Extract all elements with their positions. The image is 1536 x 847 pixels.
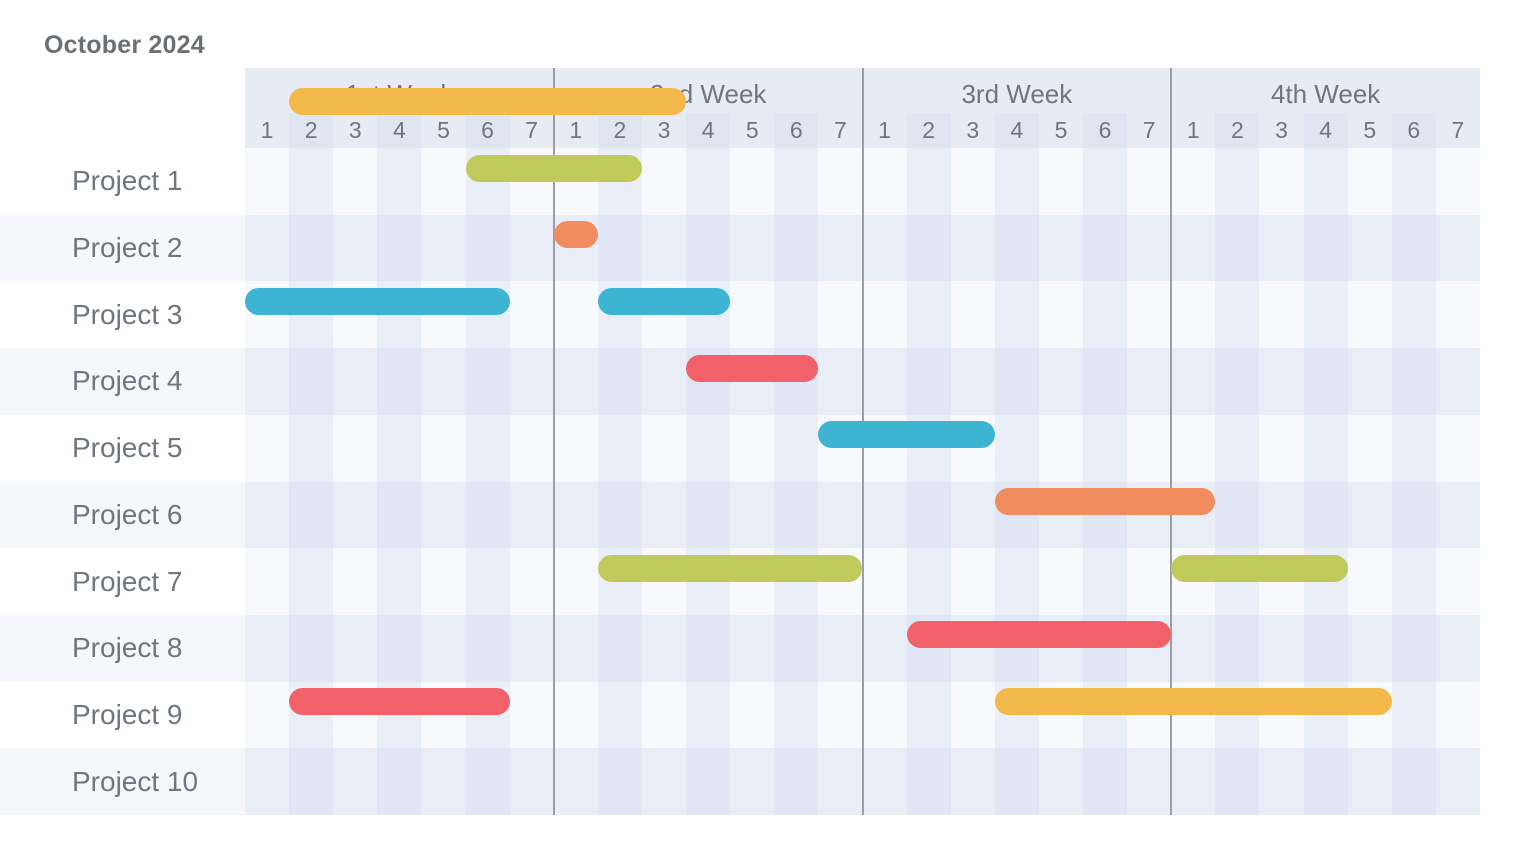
project-row-label[interactable]: Project 6	[0, 482, 245, 549]
task-bar[interactable]	[466, 155, 642, 182]
project-row-label[interactable]: Project 1	[0, 148, 245, 215]
task-bar[interactable]	[245, 288, 510, 315]
task-bar[interactable]	[598, 288, 730, 315]
task-bar[interactable]	[907, 621, 1172, 648]
gantt-bars-layer	[245, 68, 1480, 735]
page-title: October 2024	[44, 31, 205, 60]
project-row-label[interactable]: Project 10	[0, 748, 245, 815]
project-row-label[interactable]: Project 4	[0, 348, 245, 415]
task-bar[interactable]	[686, 355, 818, 382]
project-row-label[interactable]: Project 2	[0, 215, 245, 282]
project-row-label[interactable]: Project 8	[0, 615, 245, 682]
gantt-chart: October 2024 Project 1Project 2Project 3…	[0, 0, 1536, 847]
task-bar[interactable]	[1171, 555, 1347, 582]
task-bar[interactable]	[289, 688, 510, 715]
project-row-label[interactable]: Project 7	[0, 548, 245, 615]
task-bar[interactable]	[554, 221, 598, 248]
project-row-label[interactable]: Project 9	[0, 682, 245, 749]
task-bar[interactable]	[598, 555, 863, 582]
timeline-grid: 1st Week12345672nd Week12345673rd Week12…	[245, 68, 1480, 815]
task-bar[interactable]	[289, 88, 686, 115]
task-bar[interactable]	[818, 421, 994, 448]
project-label-column: Project 1Project 2Project 3Project 4Proj…	[0, 148, 245, 815]
task-bar[interactable]	[995, 688, 1392, 715]
project-row-label[interactable]: Project 3	[0, 281, 245, 348]
project-row-label[interactable]: Project 5	[0, 415, 245, 482]
task-bar[interactable]	[995, 488, 1216, 515]
